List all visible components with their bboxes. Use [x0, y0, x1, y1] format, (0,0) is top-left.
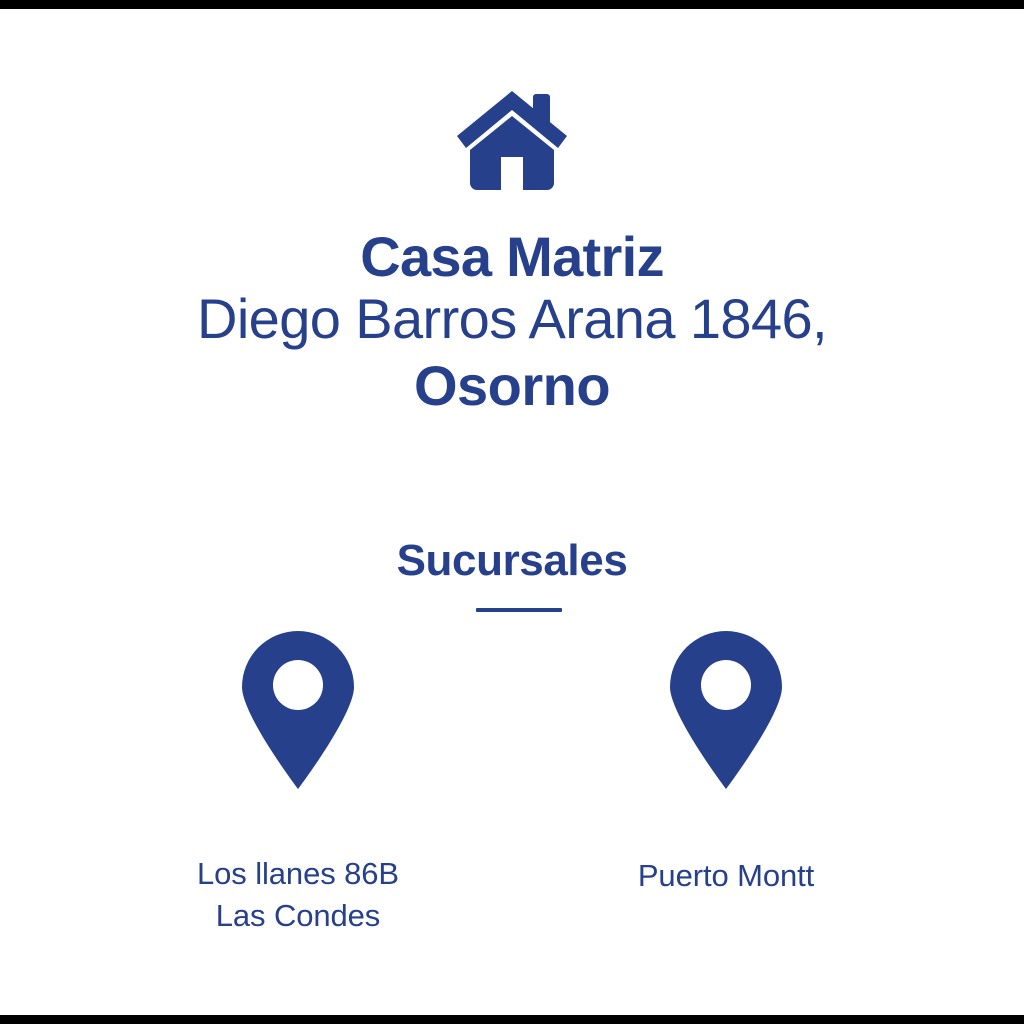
- branch-label: Los llanes 86B Las Condes: [197, 853, 399, 937]
- map-pin-icon: [666, 631, 786, 791]
- letterbox-bar-top: [0, 0, 1024, 9]
- map-pin-icon: [238, 631, 358, 791]
- branch-item[interactable]: Los llanes 86B Las Condes: [168, 631, 428, 937]
- branch-item[interactable]: Puerto Montt: [596, 631, 856, 897]
- branches-divider: [476, 608, 562, 612]
- page-content: Casa Matriz Diego Barros Arana 1846, Oso…: [0, 9, 1024, 1015]
- contact-locations-page: Casa Matriz Diego Barros Arana 1846, Oso…: [0, 0, 1024, 1024]
- headquarters-city: Osorno: [0, 353, 1024, 419]
- branch-label: Puerto Montt: [638, 855, 814, 897]
- branches-heading: Sucursales: [0, 537, 1024, 585]
- headquarters-address: Diego Barros Arana 1846,: [0, 285, 1024, 352]
- branches-list: Los llanes 86B Las Condes Puerto Montt: [0, 631, 1024, 937]
- headquarters-title: Casa Matriz: [0, 227, 1024, 287]
- letterbox-bar-bottom: [0, 1015, 1024, 1024]
- home-icon-container: [0, 90, 1024, 191]
- headquarters-block: Casa Matriz Diego Barros Arana 1846, Oso…: [0, 227, 1024, 419]
- home-icon: [455, 178, 569, 195]
